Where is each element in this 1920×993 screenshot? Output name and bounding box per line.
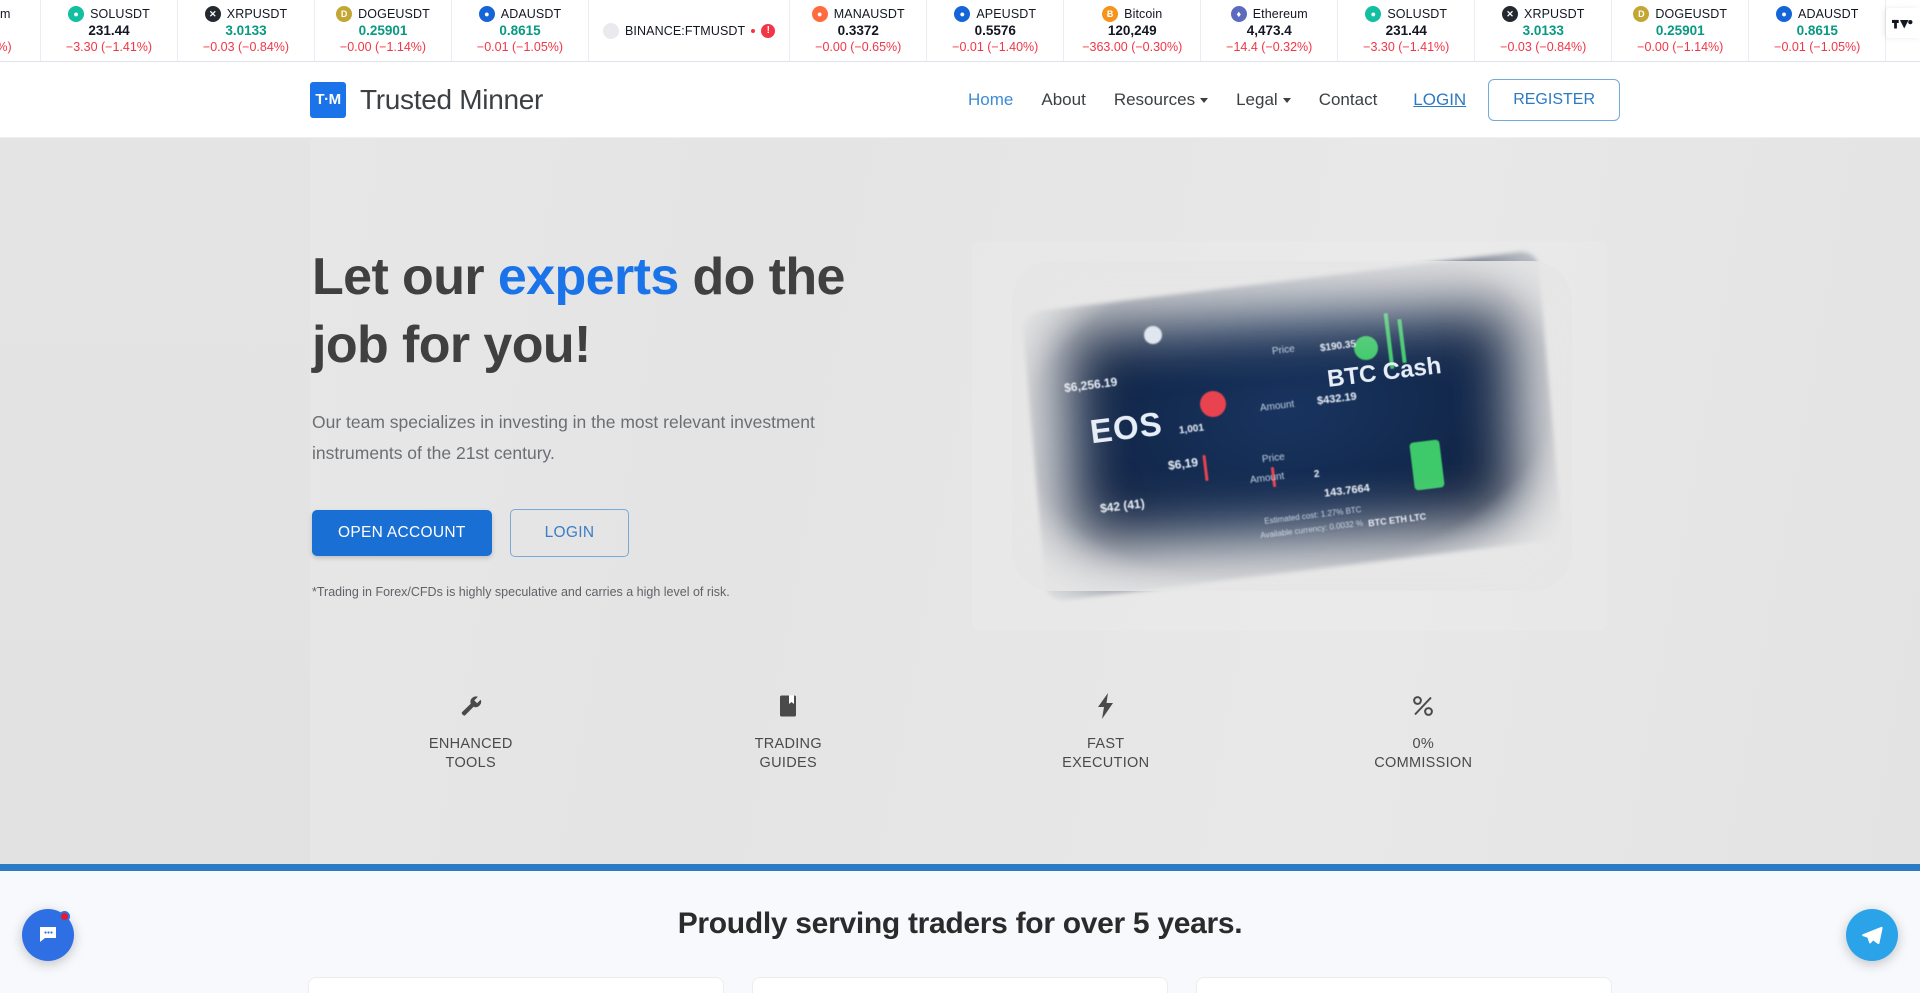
ticker-symbol: XRPUSDT [227,7,287,21]
nav-item-label: Resources [1114,90,1195,110]
feature-label-line2: COMMISSION [1374,755,1472,771]
section-divider [0,864,1920,871]
blank-logo [603,23,619,39]
bitcoin-logo: Ƀ [1102,6,1118,22]
ticker-change: −0.01 (−1.40%) [952,40,1038,55]
trust-section-title: Proudly serving traders for over 5 years… [0,907,1920,941]
ticker-price: 0.25901 [1656,23,1705,39]
ticker-price: 4,473.4 [1247,23,1292,39]
ticker-item[interactable]: ●SOLUSDT231.44−3.30 (−1.41%) [41,0,178,61]
site-header: T·M Trusted Minner HomeAboutResourcesLeg… [0,62,1920,138]
ticker-item[interactable]: ✕XRPUSDT3.0133−0.03 (−0.84%) [178,0,315,61]
xrpusdt-logo: ✕ [1502,6,1518,22]
nav-item-resources[interactable]: Resources [1100,90,1222,110]
solusdt-logo: ● [1365,6,1381,22]
trust-card-row [0,977,1920,993]
wrench-icon [459,693,483,719]
feature-label-line2: GUIDES [760,755,817,771]
hero-cta-group: OPEN ACCOUNT LOGIN [312,509,932,557]
feature-label-line2: TOOLS [446,755,496,771]
ticker-change: −3.30 (−1.41%) [66,40,152,55]
bolt-icon [1097,693,1115,719]
open-account-button[interactable]: OPEN ACCOUNT [312,510,492,556]
ticker-change: −0.01 (−1.05%) [1774,40,1860,55]
nav-item-label: Legal [1236,90,1278,110]
nav-item-label: About [1041,90,1085,110]
ticker-item[interactable]: DDOGEUSDT0.25901−0.00 (−1.14%) [315,0,452,61]
ticker-symbol: Ethereum [0,7,11,21]
tradingview-logo[interactable] [1886,8,1920,38]
chevron-down-icon [1200,98,1208,103]
ticker-price: 0.8615 [1797,23,1838,39]
ticker-error-dot [751,29,755,33]
feature-label-line2: EXECUTION [1062,755,1149,771]
nav-item-label: Home [968,90,1013,110]
ticker-item[interactable]: ●ADAUSDT0.8615−0.01 (−1.05%) [1749,0,1886,61]
hero-title-accent: experts [498,248,679,306]
ticker-symbol: BINANCE:FTMUSDT [625,24,745,38]
feature-label: 0%COMMISSION [1374,735,1472,773]
book-icon [777,693,799,719]
ticker-change: −0.03 (−0.84%) [1500,40,1586,55]
brand-logo[interactable]: T·M Trusted Minner [310,82,543,118]
ticker-symbol: SOLUSDT [90,7,150,21]
chat-unread-badge [59,911,70,922]
main-navigation[interactable]: HomeAboutResourcesLegalContact [954,90,1391,110]
hero-artwork: EOS BTC Cash Price $190.35 $6,256.19 Amo… [972,241,1607,631]
ticker-change: −0.03 (−0.84%) [203,40,289,55]
brand-name: Trusted Minner [360,84,543,116]
feature-label: TRADINGGUIDES [755,735,822,773]
solusdt-logo: ● [68,6,84,22]
hero-section: Let our experts do the job for you! Our … [0,138,1920,864]
ticker-price: 3.0133 [225,23,266,39]
ticker-price: 0.3372 [838,23,879,39]
brand-mark-icon: T·M [310,82,346,118]
ticker-symbol: MANAUSDT [834,7,905,21]
xrpusdt-logo: ✕ [205,6,221,22]
chat-bubble-icon [36,923,60,947]
hero-title: Let our experts do the job for you! [312,243,932,379]
ticker-change: −14.4 (−0.32%) [1226,40,1312,55]
header-login-link[interactable]: LOGIN [1413,90,1466,110]
feature-label: FASTEXECUTION [1062,735,1149,773]
manausdt-logo: ● [812,6,828,22]
ticker-change: −3.30 (−1.41%) [1363,40,1449,55]
ticker-price: 0.5576 [975,23,1016,39]
feature-item: ENHANCEDTOOLS [312,693,630,773]
chat-widget-button[interactable] [22,909,74,961]
ticker-item[interactable]: ●ADAUSDT0.8615−0.01 (−1.05%) [452,0,589,61]
header-register-button[interactable]: REGISTER [1488,79,1620,121]
ticker-item[interactable]: ●SOLUSDT231.44−3.30 (−1.41%) [1338,0,1475,61]
ticker-change: −0.00 (−1.14%) [1637,40,1723,55]
feature-label: ENHANCEDTOOLS [429,735,513,773]
ticker-price: 231.44 [1386,23,1427,39]
market-ticker-bar[interactable]: ♦Ethereum4,473.4−0.1 (−0.32%)●SOLUSDT231… [0,0,1920,62]
adausdt-logo: ● [479,6,495,22]
ethereum-logo: ♦ [1231,6,1247,22]
artwork-amount-value-2: 2 [1313,469,1320,481]
ticker-symbol: SOLUSDT [1387,7,1447,21]
hero-subtitle: Our team specializes in investing in the… [312,407,872,469]
ticker-symbol: DOGEUSDT [1655,7,1727,21]
ticker-item[interactable]: ✕XRPUSDT3.0133−0.03 (−0.84%) [1475,0,1612,61]
artwork-green-block [1409,439,1445,490]
nav-item-about[interactable]: About [1027,90,1099,110]
nav-item-home[interactable]: Home [954,90,1027,110]
ticker-symbol: ADAUSDT [1798,7,1858,21]
ticker-change: −0.1 (−0.32%) [0,40,12,55]
ticker-symbol: XRPUSDT [1524,7,1584,21]
ticker-price: 3.0133 [1523,23,1564,39]
hero-login-button[interactable]: LOGIN [510,509,630,557]
feature-item: FASTEXECUTION [947,693,1265,773]
feature-label-line1: 0% [1412,736,1434,752]
ticker-price: 120,249 [1108,23,1157,39]
feature-label-line1: FAST [1087,736,1124,752]
ticker-item[interactable]: ɃBitcoin120,249−363.00 (−0.30%) [1064,0,1201,61]
trust-card[interactable] [752,977,1168,993]
apeusdt-logo: ● [954,6,970,22]
ticker-symbol: ADAUSDT [501,7,561,21]
hero-copy: Let our experts do the job for you! Our … [312,243,932,599]
trust-card[interactable] [308,977,724,993]
feature-item: TRADINGGUIDES [630,693,948,773]
feature-item: 0%COMMISSION [1265,693,1583,773]
hero-risk-disclaimer: *Trading in Forex/CFDs is highly specula… [312,585,932,599]
trust-section: Proudly serving traders for over 5 years… [0,871,1920,993]
feature-label-line1: TRADING [755,736,822,752]
nav-item-label: Contact [1319,90,1378,110]
ticker-price: 231.44 [88,23,129,39]
ticker-item[interactable]: ●APEUSDT0.5576−0.01 (−1.40%) [927,0,1064,61]
ticker-error-icon[interactable]: ! [761,24,775,38]
ticker-item[interactable]: ♦Ethereum4,473.4−14.4 (−0.32%) [1201,0,1338,61]
ticker-item[interactable]: ●MANAUSDT0.3372−0.00 (−0.65%) [790,0,927,61]
telegram-widget-button[interactable] [1846,909,1898,961]
ticker-symbol: APEUSDT [976,7,1036,21]
ticker-symbol: Ethereum [1253,7,1308,21]
nav-item-contact[interactable]: Contact [1305,90,1392,110]
ticker-price: 0.25901 [359,23,408,39]
ticker-item[interactable]: BINANCE:FTMUSDT! [589,0,790,61]
feature-label-line1: ENHANCED [429,736,513,752]
trust-card[interactable] [1196,977,1612,993]
nav-item-legal[interactable]: Legal [1222,90,1305,110]
ticker-change: −0.00 (−1.14%) [340,40,426,55]
ticker-price: 0.8615 [499,23,540,39]
adausdt-logo: ● [1776,6,1792,22]
ticker-change: −0.00 (−0.65%) [815,40,901,55]
ticker-item[interactable]: ♦Ethereum4,473.4−0.1 (−0.32%) [0,0,41,61]
feature-highlights: ENHANCEDTOOLSTRADINGGUIDESFASTEXECUTION0… [312,693,1582,773]
chevron-down-icon [1283,98,1291,103]
ticker-symbol: DOGEUSDT [358,7,430,21]
dogeusdt-logo: D [1633,6,1649,22]
percent-icon [1411,693,1435,719]
ticker-change: −363.00 (−0.30%) [1082,40,1182,55]
hero-title-part1: Let our [312,248,498,306]
telegram-icon [1860,923,1884,947]
dogeusdt-logo: D [336,6,352,22]
ticker-item[interactable]: DDOGEUSDT0.25901−0.00 (−1.14%) [1612,0,1749,61]
ticker-change: −0.01 (−1.05%) [477,40,563,55]
ticker-symbol: Bitcoin [1124,7,1162,21]
